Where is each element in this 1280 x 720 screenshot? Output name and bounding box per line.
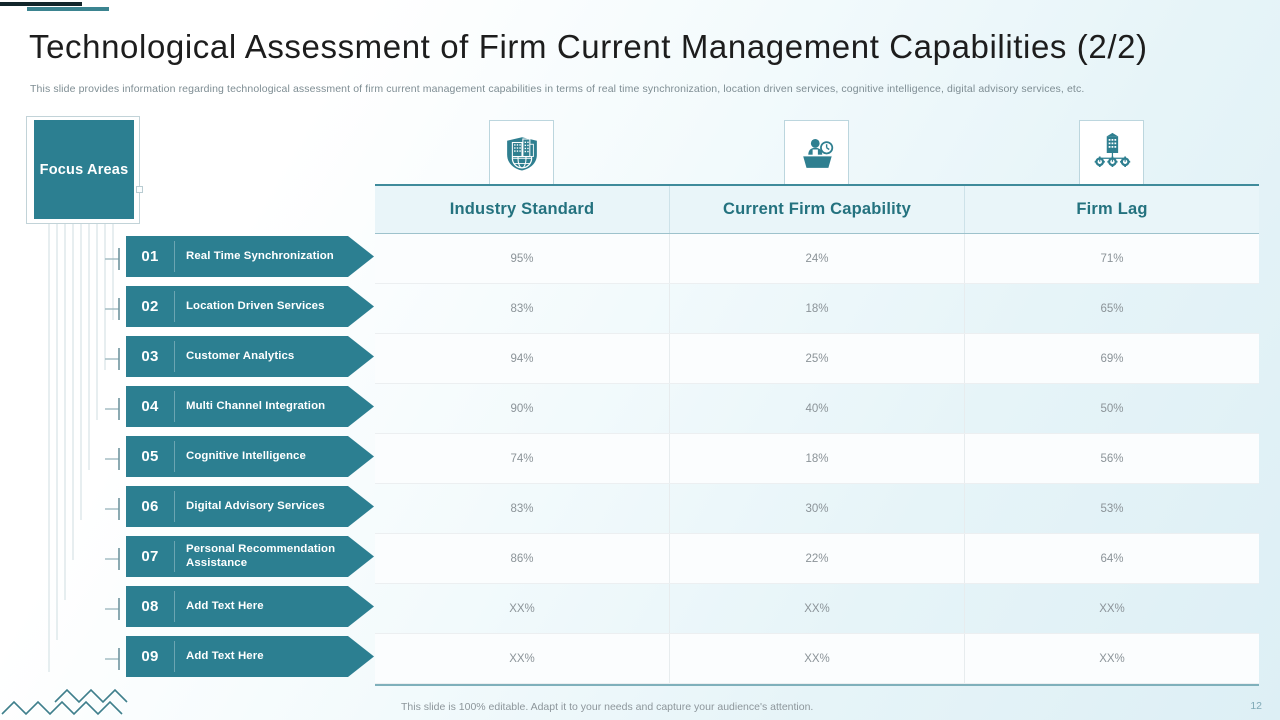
focus-area-label: Real Time Synchronization <box>175 250 340 264</box>
table-row: 83%30%53% <box>375 484 1259 534</box>
table-cell: XX% <box>964 584 1259 633</box>
table-cell: 86% <box>375 534 669 583</box>
table-bottom-rule <box>375 684 1259 686</box>
focus-area-label: Multi Channel Integration <box>175 400 331 414</box>
focus-areas-list: 01Real Time Synchronization02Location Dr… <box>126 236 376 686</box>
slide-root: Technological Assessment of Firm Current… <box>0 0 1280 720</box>
table-header-row: Industry StandardCurrent Firm Capability… <box>375 184 1259 234</box>
table-cell: 94% <box>375 334 669 383</box>
table-cell: 83% <box>375 484 669 533</box>
icon-box-current-firm-capability <box>784 120 849 186</box>
page-number: 12 <box>1250 700 1262 712</box>
focus-area-number: 07 <box>126 548 174 565</box>
arrow-shape[interactable]: 09Add Text Here <box>126 636 374 677</box>
focus-area-item[interactable]: 07Personal Recommendation Assistance <box>126 536 376 577</box>
focus-area-label: Customer Analytics <box>175 350 300 364</box>
table-cell: XX% <box>964 634 1259 683</box>
table-cell: 74% <box>375 434 669 483</box>
focus-area-item[interactable]: 03Customer Analytics <box>126 336 376 377</box>
table-cell: 18% <box>669 284 964 333</box>
focus-area-number: 04 <box>126 398 174 415</box>
table-cell: 50% <box>964 384 1259 433</box>
focus-area-item[interactable]: 06Digital Advisory Services <box>126 486 376 527</box>
focus-area-number: 03 <box>126 348 174 365</box>
arrow-shape[interactable]: 08Add Text Here <box>126 586 374 627</box>
table-cell: 69% <box>964 334 1259 383</box>
arrow-shape[interactable]: 05Cognitive Intelligence <box>126 436 374 477</box>
table-row: 74%18%56% <box>375 434 1259 484</box>
table-row: XX%XX%XX% <box>375 584 1259 634</box>
arrow-shape[interactable]: 06Digital Advisory Services <box>126 486 374 527</box>
resize-handle[interactable] <box>136 186 143 193</box>
focus-area-item[interactable]: 04Multi Channel Integration <box>126 386 376 427</box>
table-cell: 83% <box>375 284 669 333</box>
icon-box-firm-lag <box>1079 120 1144 186</box>
focus-area-number: 02 <box>126 298 174 315</box>
building-org-gears-icon <box>1091 132 1133 174</box>
table-row: XX%XX%XX% <box>375 634 1259 684</box>
table-cell: XX% <box>375 634 669 683</box>
focus-area-number: 09 <box>126 648 174 665</box>
focus-area-label: Add Text Here <box>175 600 270 614</box>
focus-area-number: 08 <box>126 598 174 615</box>
table-cell: 56% <box>964 434 1259 483</box>
zigzag-decoration <box>0 672 140 720</box>
table-cell: 71% <box>964 234 1259 283</box>
table-cell: 53% <box>964 484 1259 533</box>
focus-area-label: Add Text Here <box>175 650 270 664</box>
accent-bar-dark <box>0 2 82 6</box>
accent-bar-teal <box>27 7 109 11</box>
table-cell: XX% <box>375 584 669 633</box>
focus-area-item[interactable]: 08Add Text Here <box>126 586 376 627</box>
table-cell: 65% <box>964 284 1259 333</box>
footer-note: This slide is 100% editable. Adapt it to… <box>401 701 813 713</box>
table-cell: XX% <box>669 634 964 683</box>
focus-area-item[interactable]: 01Real Time Synchronization <box>126 236 376 277</box>
table-cell: 24% <box>669 234 964 283</box>
page-title: Technological Assessment of Firm Current… <box>29 28 1249 66</box>
table-row: 86%22%64% <box>375 534 1259 584</box>
arrow-shape[interactable]: 07Personal Recommendation Assistance <box>126 536 374 577</box>
icon-box-industry-standard <box>489 120 554 186</box>
person-desk-clock-icon <box>796 132 838 174</box>
table-row: 83%18%65% <box>375 284 1259 334</box>
table-cell: 64% <box>964 534 1259 583</box>
table-cell: 30% <box>669 484 964 533</box>
table-column-header: Current Firm Capability <box>669 186 964 233</box>
table-column-header: Firm Lag <box>964 186 1259 233</box>
assessment-table: Industry StandardCurrent Firm Capability… <box>375 184 1259 686</box>
focus-areas-label: Focus Areas <box>40 162 129 178</box>
focus-area-item[interactable]: 05Cognitive Intelligence <box>126 436 376 477</box>
focus-area-label: Cognitive Intelligence <box>175 450 312 464</box>
table-row: 94%25%69% <box>375 334 1259 384</box>
table-cell: 25% <box>669 334 964 383</box>
arrow-shape[interactable]: 01Real Time Synchronization <box>126 236 374 277</box>
table-cell: 18% <box>669 434 964 483</box>
table-body: 95%24%71%83%18%65%94%25%69%90%40%50%74%1… <box>375 234 1259 684</box>
table-cell: 90% <box>375 384 669 433</box>
focus-area-label: Digital Advisory Services <box>175 500 331 514</box>
focus-area-label: Location Driven Services <box>175 300 331 314</box>
focus-areas-box[interactable]: Focus Areas <box>34 120 134 219</box>
arrow-shape[interactable]: 04Multi Channel Integration <box>126 386 374 427</box>
buildings-globe-icon <box>501 132 543 174</box>
focus-area-number: 06 <box>126 498 174 515</box>
focus-area-item[interactable]: 09Add Text Here <box>126 636 376 677</box>
table-cell: 40% <box>669 384 964 433</box>
table-cell: 95% <box>375 234 669 283</box>
table-row: 95%24%71% <box>375 234 1259 284</box>
arrow-shape[interactable]: 02Location Driven Services <box>126 286 374 327</box>
focus-area-number: 05 <box>126 448 174 465</box>
table-row: 90%40%50% <box>375 384 1259 434</box>
page-subtitle: This slide provides information regardin… <box>30 83 1120 95</box>
table-cell: 22% <box>669 534 964 583</box>
focus-area-number: 01 <box>126 248 174 265</box>
table-cell: XX% <box>669 584 964 633</box>
focus-area-item[interactable]: 02Location Driven Services <box>126 286 376 327</box>
table-column-header: Industry Standard <box>375 186 669 233</box>
focus-area-label: Personal Recommendation Assistance <box>175 543 374 570</box>
arrow-shape[interactable]: 03Customer Analytics <box>126 336 374 377</box>
